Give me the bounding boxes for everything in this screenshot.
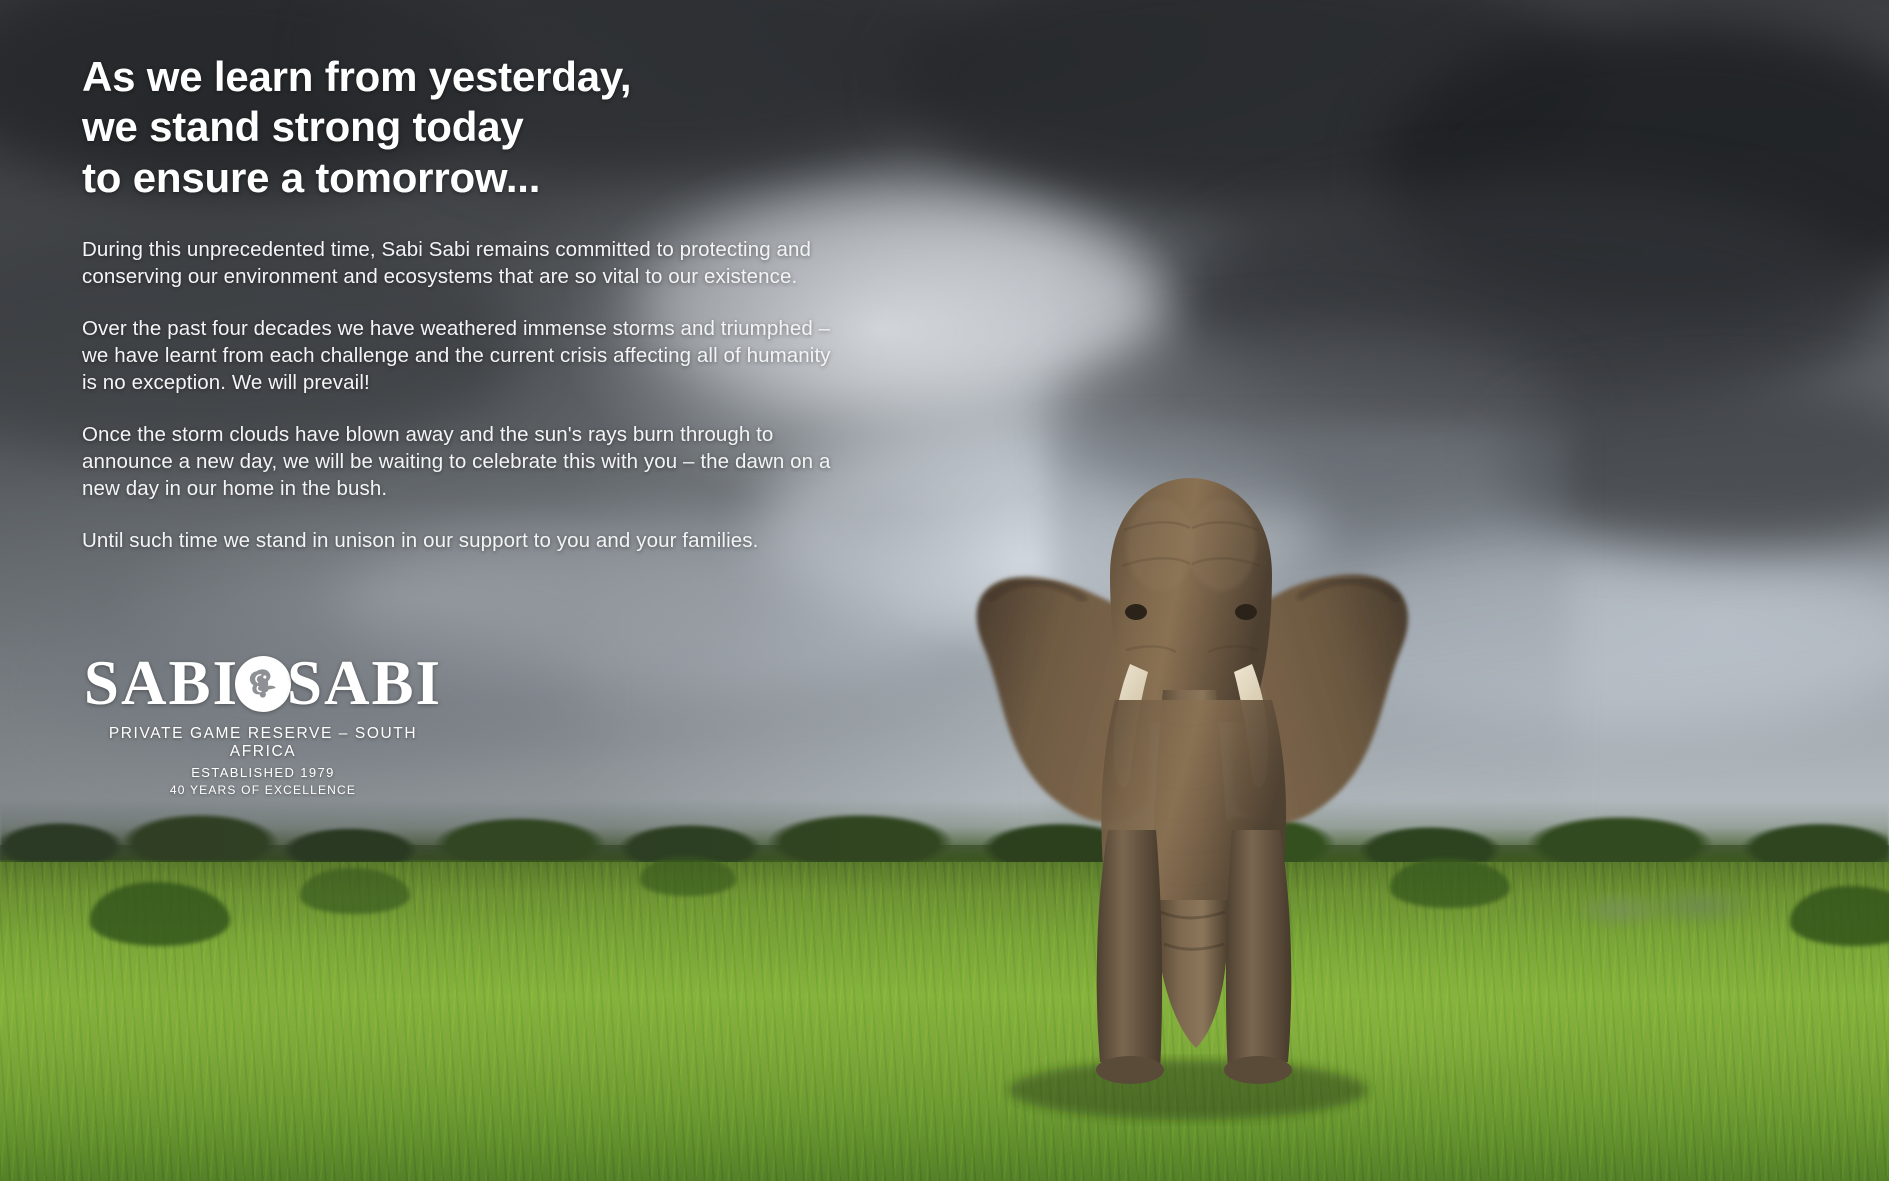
paragraph-2: Over the past four decades we have weath… (82, 316, 842, 396)
paragraph-4: Until such time we stand in unison in ou… (82, 528, 842, 555)
logo-word-right: SABI (287, 652, 442, 715)
elephant-head-icon (235, 656, 291, 712)
logo-wordmark: SABI SABI (78, 652, 448, 715)
headline-line-3: to ensure a tomorrow... (82, 153, 982, 203)
logo-tagline-excellence: 40 YEARS OF EXCELLENCE (78, 783, 448, 797)
elephant-foot-right (1224, 1056, 1292, 1084)
headline-line-2: we stand strong today (82, 102, 982, 152)
sabi-sabi-logo[interactable]: SABI SABI PRIVATE GAME RESERVE – SOUTH A… (78, 652, 448, 797)
page-title: As we learn from yesterday, we stand str… (82, 52, 982, 203)
logo-tagline-established: ESTABLISHED 1979 (78, 765, 448, 780)
paragraph-1: During this unprecedented time, Sabi Sab… (82, 237, 842, 290)
logo-tagline-location: PRIVATE GAME RESERVE – SOUTH AFRICA (78, 725, 448, 761)
elephant-foot-left (1096, 1056, 1164, 1084)
headline-line-1: As we learn from yesterday, (82, 52, 982, 102)
elephant-leg-front-right (1226, 830, 1291, 1072)
body-copy: During this unprecedented time, Sabi Sab… (82, 237, 842, 555)
logo-word-left: SABI (84, 652, 239, 715)
elephant-eye-left (1125, 604, 1147, 620)
message-block: As we learn from yesterday, we stand str… (82, 52, 982, 555)
paragraph-3: Once the storm clouds have blown away an… (82, 422, 842, 502)
elephant-leg-front-left (1097, 830, 1162, 1072)
elephant-eye-right (1235, 604, 1257, 620)
poster-canvas: As we learn from yesterday, we stand str… (0, 0, 1889, 1181)
